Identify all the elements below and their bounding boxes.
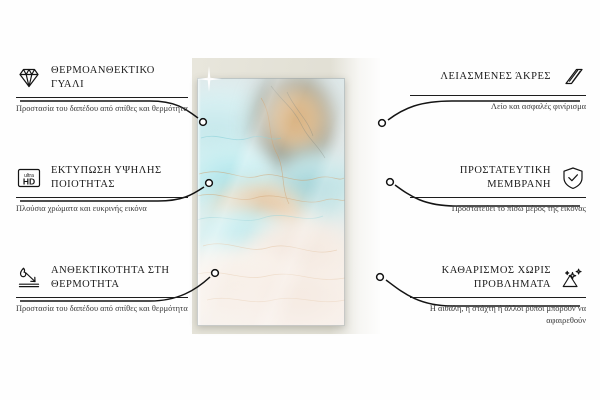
divider: [16, 197, 188, 198]
feature-polished-edges: ΛΕΙΑΣΜΕΝΕΣ ΆΚΡΕΣ Λείο και ασφαλές φινίρι…: [410, 64, 586, 113]
divider: [16, 97, 188, 98]
divider: [410, 297, 586, 298]
polished-edges-icon: [560, 64, 586, 90]
feature-protective-film: ΠΡΟΣΤΑΤΕΥΤΙΚΗ ΜΕΜΒΡΑΝΗ Προστατεύει το πί…: [410, 164, 586, 215]
divider: [410, 95, 586, 96]
shield-check-icon: [560, 165, 586, 191]
feature-title: ΑΝΘΕΚΤΙΚΟΤΗΤΑ ΣΤΗ ΘΕΡΜΟΤΗΤΑ: [51, 264, 188, 292]
feature-title: ΘΕΡΜΟΑΝΘΕΚΤΙΚΟ ΓΥΑΛΙ: [51, 64, 188, 92]
divider: [16, 297, 188, 298]
svg-text:HD: HD: [23, 176, 35, 186]
ultra-hd-icon: ultra HD: [16, 165, 42, 191]
feature-title: ΠΡΟΣΤΑΤΕΥΤΙΚΗ ΜΕΜΒΡΑΝΗ: [410, 164, 551, 192]
heat-resistance-icon: [16, 265, 42, 291]
feature-description: Λείο και ασφαλές φινίρισμα: [410, 101, 586, 113]
feature-heat-resistant-glass: ΘΕΡΜΟΑΝΘΕΚΤΙΚΟ ΓΥΑΛΙ Προστασία του δαπέδ…: [16, 64, 188, 115]
feature-heat-durability: ΑΝΘΕΚΤΙΚΟΤΗΤΑ ΣΤΗ ΘΕΡΜΟΤΗΤΑ Προστασία το…: [16, 264, 188, 315]
infographic-canvas: ΘΕΡΜΟΑΝΘΕΚΤΙΚΟ ΓΥΑΛΙ Προστασία του δαπέδ…: [0, 0, 600, 400]
feature-high-quality-print: ultra HD ΕΚΤΥΠΩΣΗ ΥΨΗΛΗΣ ΠΟΙΟΤΗΤΑΣ Πλούσ…: [16, 164, 188, 215]
feature-title: ΕΚΤΥΠΩΣΗ ΥΨΗΛΗΣ ΠΟΙΟΤΗΤΑΣ: [51, 164, 188, 192]
feature-description: Προστασία του δαπέδου από σπίθες και θερ…: [16, 103, 188, 115]
diamond-icon: [16, 65, 42, 91]
easy-clean-icon: [560, 265, 586, 291]
feature-title: ΛΕΙΑΣΜΕΝΕΣ ΆΚΡΕΣ: [440, 70, 551, 84]
divider: [410, 197, 586, 198]
feature-easy-cleaning: ΚΑΘΑΡΙΣΜΟΣ ΧΩΡΙΣ ΠΡΟΒΛΗΜΑΤΑ Η αιθάλη, η …: [410, 264, 586, 327]
feature-description: Προστατεύει το πίσω μέρος της εικόνας: [410, 203, 586, 215]
feature-title: ΚΑΘΑΡΙΣΜΟΣ ΧΩΡΙΣ ΠΡΟΒΛΗΜΑΤΑ: [410, 264, 551, 292]
feature-description: Προστασία του δαπέδου από σπίθες και θερ…: [16, 303, 188, 315]
feature-description: Πλούσια χρώματα και ευκρινής εικόνα: [16, 203, 188, 215]
feature-description: Η αιθάλη, η στάχτη ή άλλοι ρύποι μπορούν…: [410, 303, 586, 327]
